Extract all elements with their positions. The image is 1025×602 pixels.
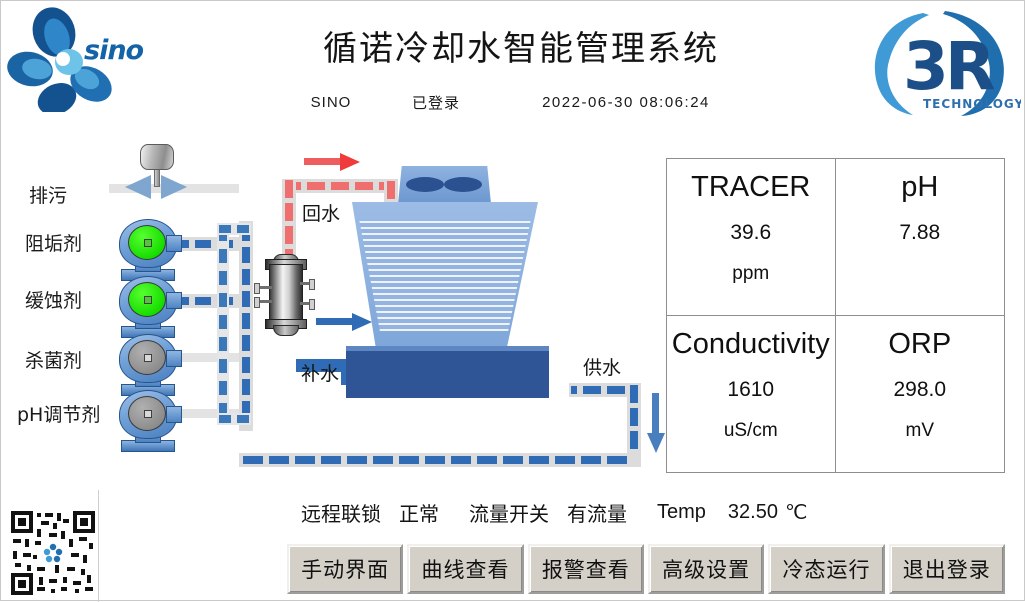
measurement-label: Conductivity xyxy=(672,328,830,361)
hmi-screen: sino 3R TECHNOLOGY 循诺冷却水智能管理系统 SINO 已登录 … xyxy=(0,0,1025,601)
svg-text:sino: sino xyxy=(84,35,144,66)
tower-fan xyxy=(398,166,491,204)
pump-biocide[interactable] xyxy=(119,334,175,390)
measurement-label: ORP xyxy=(888,328,951,361)
label-supply-water: 供水 xyxy=(583,353,621,380)
pump-antiscalant[interactable] xyxy=(119,219,175,275)
svg-text:3R: 3R xyxy=(903,28,995,105)
measurement-unit: uS/cm xyxy=(724,420,778,442)
label-makeup-water: 补水 xyxy=(301,359,339,386)
logout-button[interactable]: 退出登录 xyxy=(889,544,1005,594)
header-bar: sino 3R TECHNOLOGY 循诺冷却水智能管理系统 SINO 已登录 … xyxy=(1,1,1025,126)
logo-subtext: TECHNOLOGY xyxy=(923,97,1021,111)
pipe-outer-loop-top xyxy=(217,223,251,235)
pump-corrosion-inhibitor[interactable] xyxy=(119,276,175,332)
pipe-supply-bottom xyxy=(239,453,641,467)
measurement-cell-orp: ORP 298.0 mV xyxy=(836,316,1005,473)
tower-fill-slats xyxy=(352,221,538,331)
measurement-unit: ppm xyxy=(732,263,769,285)
measurement-value: 7.88 xyxy=(899,221,940,245)
qr-code xyxy=(9,509,97,597)
curve-view-button[interactable]: 曲线查看 xyxy=(407,544,523,594)
sino-logo: sino xyxy=(7,7,147,112)
label-blowdown: 排污 xyxy=(29,181,67,208)
pump-ph-adjuster[interactable] xyxy=(119,390,175,446)
flow-switch-label: 流量开关 xyxy=(469,498,549,527)
session-status-line: SINO 已登录 2022-06-30 08:06:24 xyxy=(251,91,791,113)
measurement-value: 1610 xyxy=(727,378,774,402)
system-datetime: 2022-06-30 08:06:24 xyxy=(496,94,756,111)
side-stream-filter-icon[interactable] xyxy=(260,254,312,336)
measurement-label: TRACER xyxy=(691,171,810,204)
measurement-cell-conductivity: Conductivity 1610 uS/cm xyxy=(667,316,836,473)
action-button-bar: 手动界面 曲线查看 报警查看 高级设置 冷态运行 退出登录 xyxy=(287,544,1005,594)
label-return-water: 回水 xyxy=(302,199,340,226)
label-antiscalant: 阻垢剂 xyxy=(25,229,82,256)
page-title: 循诺冷却水智能管理系统 xyxy=(251,21,791,70)
pipe-outer-loop-bottom xyxy=(217,413,251,425)
pipe-biocide xyxy=(171,353,247,362)
measurement-label: pH xyxy=(901,171,938,204)
measurement-value: 39.6 xyxy=(730,221,771,245)
manual-interface-button[interactable]: 手动界面 xyxy=(287,544,403,594)
temperature-label: Temp xyxy=(657,501,706,524)
qr-center-logo xyxy=(41,541,65,565)
pipe-return-left xyxy=(282,179,296,259)
label-biocide: 杀菌剂 xyxy=(25,346,82,373)
tower-basin xyxy=(346,346,549,398)
current-user: SINO xyxy=(286,94,376,111)
measurement-value: 298.0 xyxy=(893,378,946,402)
label-corrosion-inhibitor: 缓蚀剂 xyxy=(25,286,82,313)
measurement-cell-tracer: TRACER 39.6 ppm xyxy=(667,159,836,316)
pipe-outer-loop-left xyxy=(217,223,229,425)
temperature-value: 32.50 xyxy=(728,501,778,524)
cold-start-run-button[interactable]: 冷态运行 xyxy=(768,544,884,594)
cooling-tower xyxy=(346,166,596,421)
supply-flow-arrow xyxy=(647,393,665,455)
left-divider xyxy=(98,490,99,602)
alarm-view-button[interactable]: 报警查看 xyxy=(528,544,644,594)
flow-switch-value: 有流量 xyxy=(567,498,627,527)
login-state-badge: 已登录 xyxy=(376,92,496,113)
label-ph-adjuster: pH调节剂 xyxy=(17,400,100,427)
measurement-unit: mV xyxy=(906,420,935,442)
temperature-unit: ℃ xyxy=(785,500,807,525)
bottom-status-bar: 远程联锁 正常 流量开关 有流量 Temp 32.50 ℃ xyxy=(301,497,1001,527)
blowdown-valve-icon[interactable] xyxy=(121,144,191,199)
remote-interlock-value: 正常 xyxy=(399,498,439,527)
measurement-cell-ph: pH 7.88 xyxy=(836,159,1005,316)
advanced-settings-button[interactable]: 高级设置 xyxy=(648,544,764,594)
pipe-chemical-riser xyxy=(239,221,253,431)
measurement-panel: TRACER 39.6 ppm pH 7.88 Conductivity 161… xyxy=(666,158,1005,473)
3r-technology-logo: 3R TECHNOLOGY xyxy=(863,5,1021,119)
remote-interlock-label: 远程联锁 xyxy=(301,498,381,527)
